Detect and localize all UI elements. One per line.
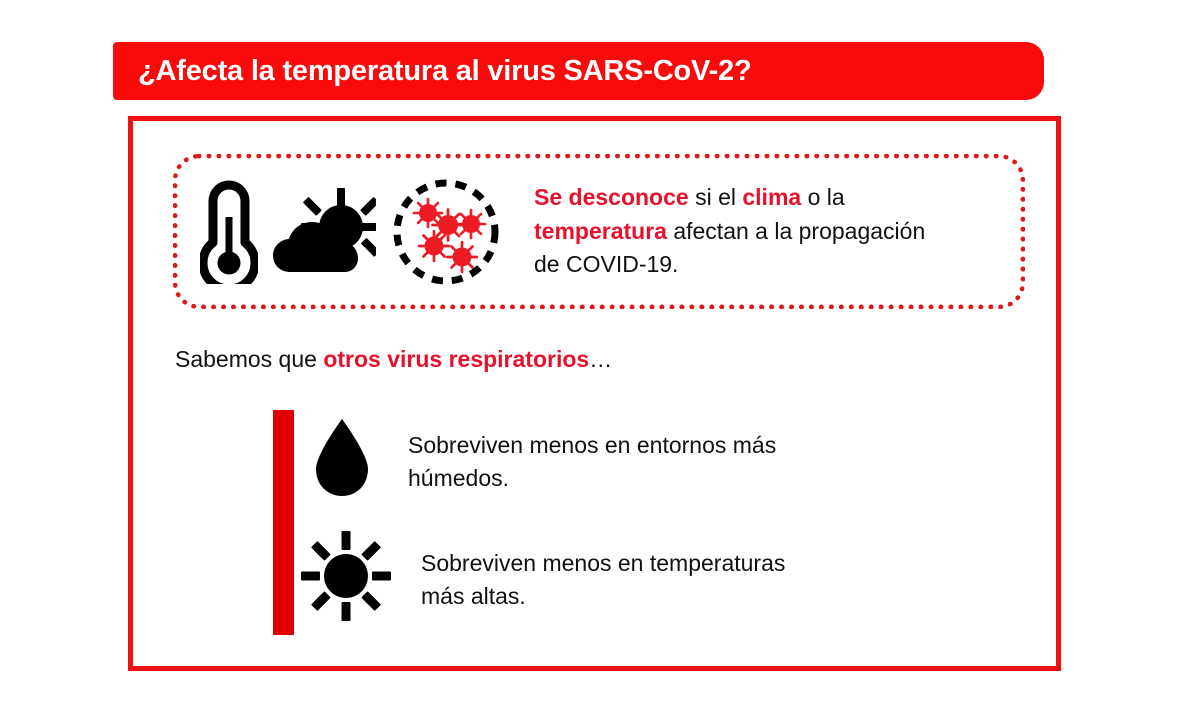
callout-line-3: de COVID-19. bbox=[534, 248, 925, 281]
bullet-1-line-2: húmedos. bbox=[408, 462, 776, 495]
intro-highlight: otros virus respiratorios bbox=[323, 346, 589, 372]
content-panel: Se desconoce si el clima o la temperatur… bbox=[128, 116, 1061, 671]
callout-plain-3: afectan a la propagación bbox=[667, 218, 925, 244]
callout-emphasis-desconoce: Se desconoce bbox=[534, 184, 689, 210]
callout-icon-group bbox=[178, 176, 502, 288]
callout-plain-1: si el bbox=[689, 184, 743, 210]
virus-particles-circle-icon bbox=[390, 176, 502, 288]
bullet-2-line-1: Sobreviven menos en temperaturas bbox=[421, 547, 785, 580]
callout-plain-4: de COVID-19. bbox=[534, 251, 678, 277]
accent-bar bbox=[273, 410, 294, 635]
water-drop-icon bbox=[309, 417, 375, 499]
sun-icon bbox=[299, 529, 393, 623]
bullet-2-line-2: más altas. bbox=[421, 580, 785, 613]
page-title: ¿Afecta la temperatura al virus SARS-CoV… bbox=[113, 55, 751, 88]
callout-emphasis-temperatura: temperatura bbox=[534, 218, 667, 244]
callout-plain-2: o la bbox=[801, 184, 844, 210]
callout-line-2: temperatura afectan a la propagación bbox=[534, 215, 925, 248]
sun-behind-cloud-icon bbox=[272, 184, 376, 280]
callout-emphasis-clima: clima bbox=[742, 184, 801, 210]
title-banner: ¿Afecta la temperatura al virus SARS-CoV… bbox=[113, 42, 1044, 100]
intro-line: Sabemos que otros virus respiratorios… bbox=[175, 346, 612, 373]
list-item: Sobreviven menos en temperaturas más alt… bbox=[299, 529, 785, 623]
thermometer-icon bbox=[200, 180, 258, 284]
intro-lead: Sabemos que bbox=[175, 346, 323, 372]
list-item-text: Sobreviven menos en entornos más húmedos… bbox=[375, 417, 776, 494]
list-item: Sobreviven menos en entornos más húmedos… bbox=[309, 417, 776, 499]
callout-line-1: Se desconoce si el clima o la bbox=[534, 181, 925, 214]
intro-trail: … bbox=[589, 346, 612, 372]
bullet-1-line-1: Sobreviven menos en entornos más bbox=[408, 429, 776, 462]
callout-text: Se desconoce si el clima o la temperatur… bbox=[502, 181, 935, 281]
callout-box: Se desconoce si el clima o la temperatur… bbox=[173, 154, 1025, 309]
list-item-text: Sobreviven menos en temperaturas más alt… bbox=[393, 529, 785, 612]
